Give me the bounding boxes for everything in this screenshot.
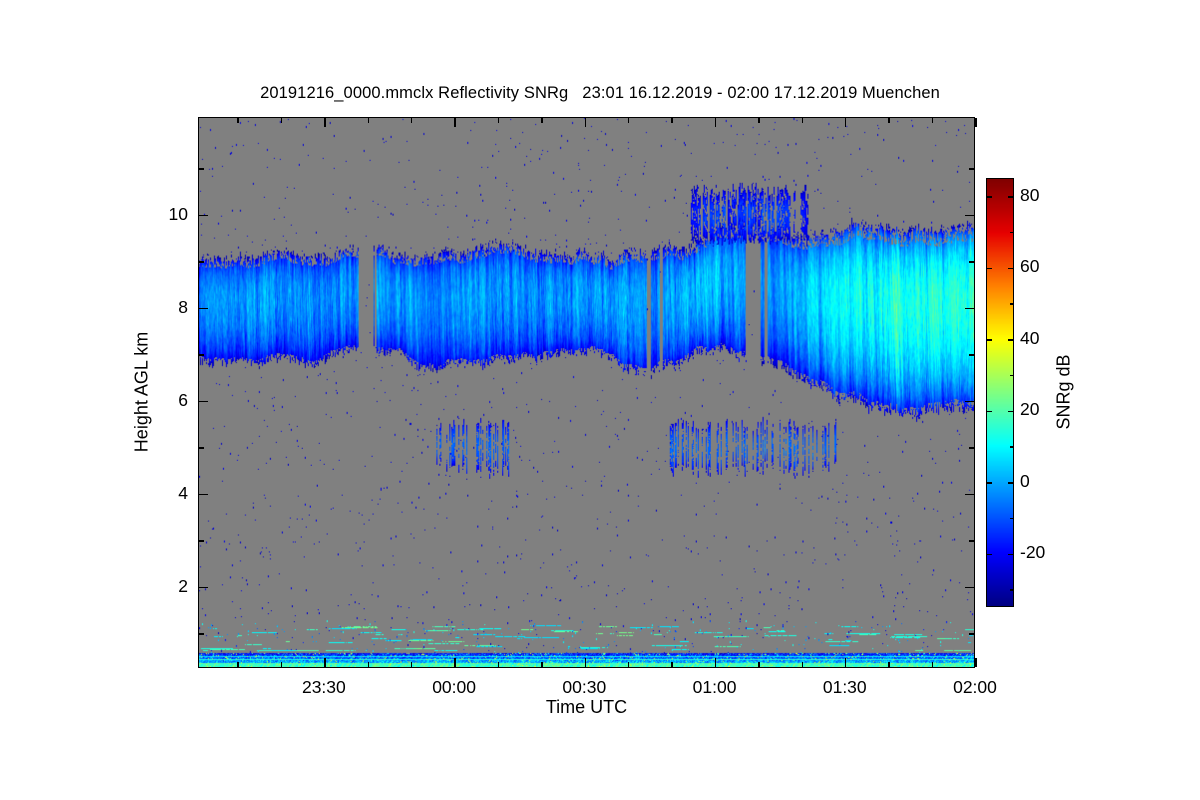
y-axis-major-tick <box>199 494 208 495</box>
colorbar-minor-tick <box>1010 232 1013 233</box>
colorbar-tick <box>987 554 992 555</box>
y-axis-minor-tick <box>199 540 204 541</box>
x-axis-major-tick <box>585 118 586 127</box>
y-axis-major-tick <box>965 494 974 495</box>
colorbar-title: SNRg dB <box>1054 354 1075 429</box>
y-axis-major-tick <box>199 587 208 588</box>
y-axis-minor-tick <box>199 633 204 634</box>
x-axis-minor-tick <box>802 118 803 123</box>
colorbar-tick <box>987 411 992 412</box>
x-axis-minor-tick <box>628 118 629 123</box>
x-axis-minor-tick <box>411 662 412 667</box>
x-axis-tick-label: 02:00 <box>927 677 1023 698</box>
x-axis-minor-tick <box>671 118 672 123</box>
colorbar-tick-label: 40 <box>1020 328 1039 349</box>
x-axis-minor-tick <box>628 662 629 667</box>
y-axis-title: Height AGL km <box>132 332 153 452</box>
x-axis-minor-tick <box>932 118 933 123</box>
colorbar-tick-label: 80 <box>1020 185 1039 206</box>
colorbar <box>986 178 1014 607</box>
y-axis-minor-tick <box>969 633 974 634</box>
colorbar-minor-tick <box>1010 303 1013 304</box>
x-axis-minor-tick <box>541 118 542 123</box>
x-axis-minor-tick <box>281 662 282 667</box>
y-axis-minor-tick <box>199 261 204 262</box>
x-axis-major-tick <box>975 118 976 127</box>
x-axis-minor-tick <box>758 118 759 123</box>
colorbar-minor-tick <box>1010 518 1013 519</box>
colorbar-tick <box>1008 339 1013 340</box>
colorbar-tick <box>1008 482 1013 483</box>
x-axis-title: Time UTC <box>198 697 975 718</box>
x-axis-minor-tick <box>888 118 889 123</box>
figure-canvas: 20191216_0000.mmclx Reflectivity SNRg 23… <box>0 0 1200 800</box>
x-axis-minor-tick <box>498 662 499 667</box>
plot-area <box>198 117 975 668</box>
x-axis-tick-label: 00:00 <box>406 677 502 698</box>
colorbar-minor-tick <box>1010 446 1013 447</box>
colorbar-minor-tick <box>1010 375 1013 376</box>
y-axis-minor-tick <box>969 261 974 262</box>
x-axis-major-tick <box>975 658 976 667</box>
y-axis-tick-label: 8 <box>146 297 188 318</box>
y-axis-major-tick <box>965 587 974 588</box>
x-axis-tick-label: 01:00 <box>667 677 763 698</box>
colorbar-minor-tick <box>1010 589 1013 590</box>
y-axis-tick-label: 4 <box>146 483 188 504</box>
y-axis-tick-label: 2 <box>146 576 188 597</box>
y-axis-major-tick <box>965 308 974 309</box>
x-axis-minor-tick <box>368 118 369 123</box>
colorbar-tick <box>1008 411 1013 412</box>
x-axis-minor-tick <box>368 662 369 667</box>
colorbar-tick-label: 0 <box>1020 471 1030 492</box>
colorbar-tick <box>987 268 992 269</box>
x-axis-major-tick <box>845 118 846 127</box>
y-axis-major-tick <box>199 401 208 402</box>
colorbar-tick-label: 60 <box>1020 256 1039 277</box>
colorbar-tick <box>1008 268 1013 269</box>
y-axis-minor-tick <box>199 447 204 448</box>
x-axis-major-tick <box>324 118 325 127</box>
x-axis-minor-tick <box>932 662 933 667</box>
x-axis-minor-tick <box>541 662 542 667</box>
y-axis-minor-tick <box>199 354 204 355</box>
colorbar-tick <box>1008 554 1013 555</box>
x-axis-major-tick <box>454 118 455 127</box>
x-axis-tick-label: 23:30 <box>276 677 372 698</box>
x-axis-tick-label: 01:30 <box>797 677 893 698</box>
x-axis-major-tick <box>324 658 325 667</box>
y-axis-major-tick <box>965 215 974 216</box>
y-axis-minor-tick <box>969 168 974 169</box>
y-axis-tick-label: 10 <box>146 204 188 225</box>
y-axis-minor-tick <box>969 447 974 448</box>
x-axis-minor-tick <box>281 118 282 123</box>
colorbar-tick <box>987 196 992 197</box>
y-axis-major-tick <box>199 308 208 309</box>
page-title: 20191216_0000.mmclx Reflectivity SNRg 23… <box>0 84 1200 103</box>
y-axis-minor-tick <box>199 168 204 169</box>
y-axis-major-tick <box>965 401 974 402</box>
x-axis-major-tick <box>845 658 846 667</box>
x-axis-tick-label: 00:30 <box>536 677 632 698</box>
reflectivity-heatmap <box>199 118 974 667</box>
x-axis-major-tick <box>715 658 716 667</box>
x-axis-minor-tick <box>411 118 412 123</box>
y-axis-minor-tick <box>969 540 974 541</box>
y-axis-minor-tick <box>969 354 974 355</box>
x-axis-minor-tick <box>237 118 238 123</box>
y-axis-major-tick <box>199 215 208 216</box>
x-axis-minor-tick <box>498 118 499 123</box>
colorbar-tick-label: 20 <box>1020 399 1039 420</box>
x-axis-major-tick <box>585 658 586 667</box>
x-axis-major-tick <box>454 658 455 667</box>
x-axis-minor-tick <box>888 662 889 667</box>
x-axis-minor-tick <box>237 662 238 667</box>
x-axis-minor-tick <box>671 662 672 667</box>
colorbar-tick <box>987 482 992 483</box>
x-axis-minor-tick <box>802 662 803 667</box>
colorbar-tick-label: -20 <box>1020 542 1045 563</box>
x-axis-major-tick <box>715 118 716 127</box>
colorbar-tick <box>987 339 992 340</box>
colorbar-gradient <box>987 179 1013 606</box>
colorbar-tick <box>1008 196 1013 197</box>
x-axis-minor-tick <box>758 662 759 667</box>
